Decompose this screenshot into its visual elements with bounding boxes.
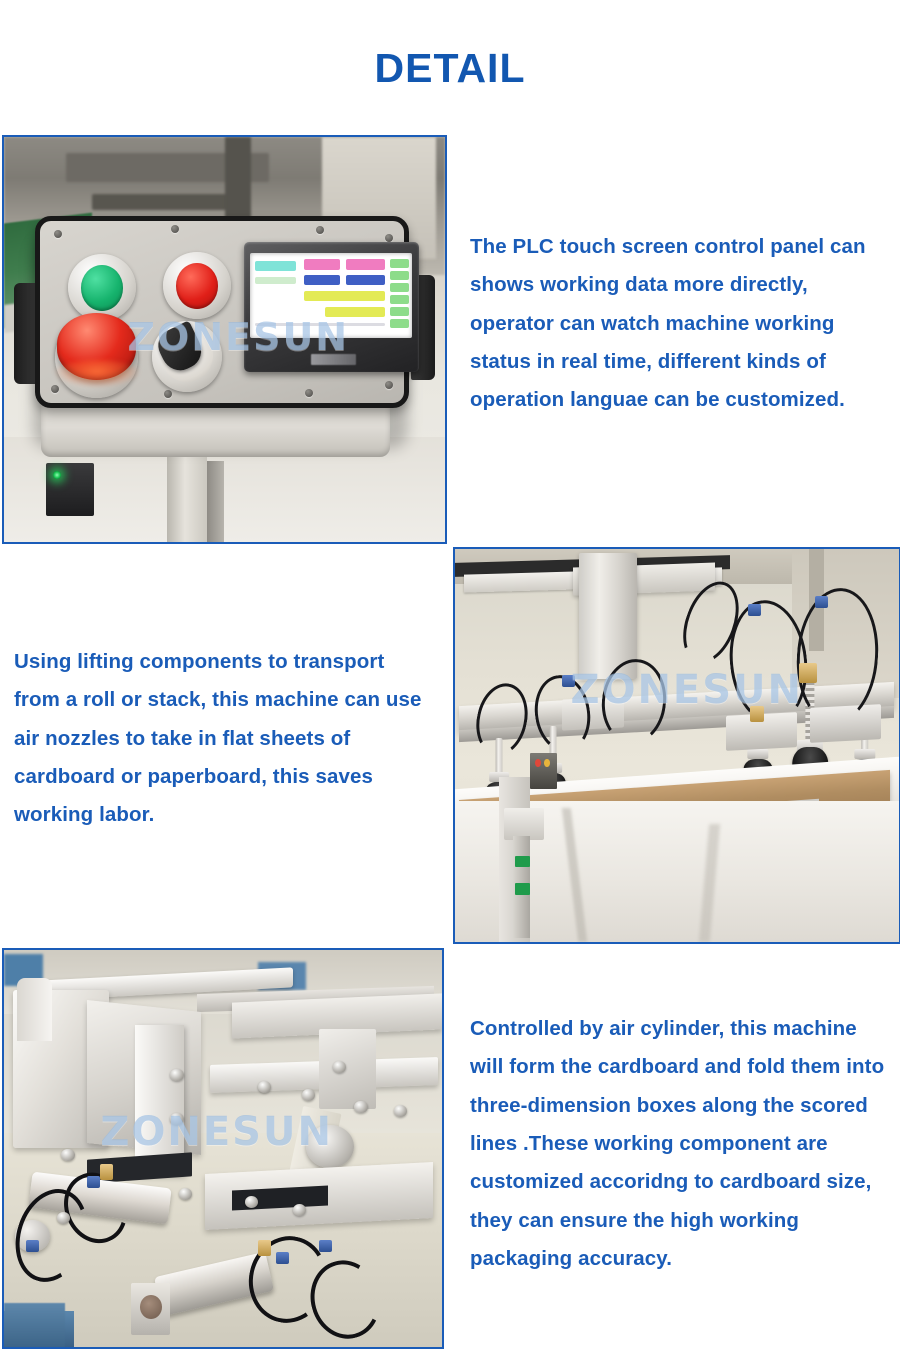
page-title: DETAIL: [0, 48, 900, 89]
tube-fitting: [748, 604, 761, 616]
brass-fitting: [100, 1164, 113, 1180]
brass-fitting: [258, 1240, 271, 1256]
tube-fitting: [562, 675, 575, 687]
start-button-green[interactable]: [81, 265, 123, 311]
brass-fitting: [750, 706, 763, 722]
hmi-row-yellow: [304, 291, 385, 300]
indicator-light-red: [535, 759, 541, 767]
hmi-row-pink: [346, 259, 385, 269]
panel-pedestal-post: [207, 461, 225, 542]
bolt-head: [302, 1089, 315, 1101]
bolt-head: [61, 1149, 75, 1162]
panel-pedestal: [167, 453, 207, 542]
hose-fitting: [87, 1176, 100, 1188]
bolt-head: [258, 1081, 271, 1093]
blue-machine-part: [4, 1303, 65, 1347]
left-bracket-arm: [17, 978, 52, 1042]
hmi-row-yellow: [325, 307, 385, 316]
bolt-head: [170, 1069, 183, 1081]
hmi-touchscreen-display[interactable]: [250, 253, 412, 339]
indicator-light-amber: [544, 759, 550, 767]
emergency-stop-glow: [53, 360, 141, 388]
hmi-footer-bar: [255, 323, 385, 326]
hmi-touchscreen-bezel: [244, 242, 418, 372]
hmi-row-blue: [304, 275, 340, 285]
hose-fitting: [319, 1240, 332, 1252]
stop-button-red[interactable]: [176, 263, 218, 309]
lifting-components-image: ZONESUN: [453, 547, 900, 944]
hmi-status-cell: [390, 307, 409, 316]
machinery-bar-secondary: [92, 194, 233, 210]
bolt-head: [57, 1212, 70, 1224]
panel-screw: [51, 385, 59, 393]
green-clip: [515, 856, 531, 868]
hmi-status-cell: [390, 295, 409, 304]
bolt-head: [245, 1196, 258, 1208]
panel-screw: [54, 230, 62, 238]
hmi-row-teal: [255, 261, 295, 270]
hmi-row-pink: [304, 259, 340, 269]
panel-screw: [316, 226, 324, 234]
brass-fitting: [799, 663, 817, 683]
panel-screw: [305, 389, 313, 397]
bolt-head: [333, 1061, 346, 1073]
bolt-head: [394, 1105, 407, 1117]
indicator-housing: [46, 463, 95, 516]
hmi-brand-logo: [311, 354, 356, 366]
plc-control-panel-image: ZONESUN: [2, 135, 447, 544]
air-cylinder-forming-description: Controlled by air cylinder, this machine…: [470, 1010, 892, 1278]
detail-page: DETAIL: [0, 0, 900, 1355]
panel-screw: [385, 381, 393, 389]
panel-screw: [164, 390, 172, 398]
plc-control-panel-description: The PLC touch screen control panel can s…: [470, 228, 890, 420]
right-block: [319, 1029, 376, 1108]
panel-screw: [171, 225, 179, 233]
suction-collar: [747, 749, 768, 759]
lifting-components-description: Using lifting components to transport fr…: [14, 643, 434, 835]
hmi-row-blue: [346, 275, 385, 285]
hmi-status-cell: [390, 319, 409, 328]
hose-fitting: [276, 1252, 289, 1264]
shaft-end-disc: [140, 1295, 162, 1319]
hmi-status-cell: [390, 259, 409, 268]
control-box: [530, 753, 557, 788]
hmi-status-cell: [390, 271, 409, 280]
hmi-row-lightgreen: [255, 277, 295, 285]
hose-fitting: [26, 1240, 39, 1252]
bolt-head: [354, 1101, 367, 1113]
air-cylinder-forming-image: ZONESUN: [2, 948, 444, 1349]
hmi-status-cell: [390, 283, 409, 292]
bolt-head: [170, 1113, 183, 1125]
tube-fitting: [815, 596, 828, 608]
power-led-indicator: [53, 471, 61, 479]
panel-screw: [385, 234, 393, 242]
green-clip: [515, 883, 531, 895]
